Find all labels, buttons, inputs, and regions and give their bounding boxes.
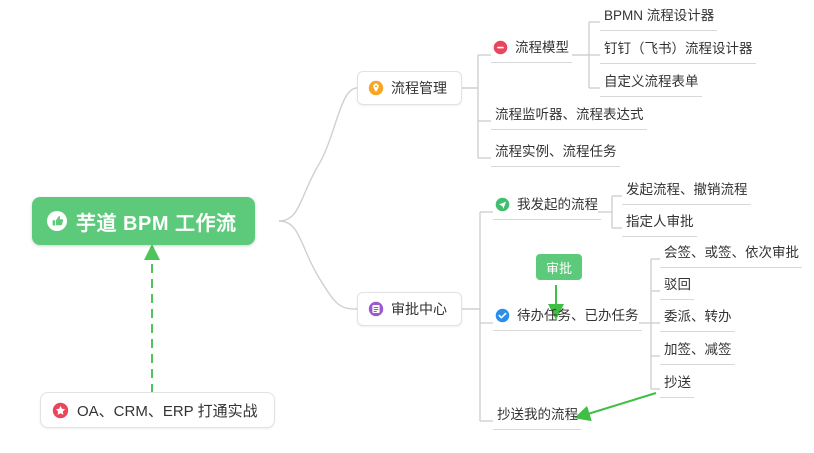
node-approval-center[interactable]: 审批中心 (357, 292, 462, 326)
note-oa-crm-erp[interactable]: OA、CRM、ERP 打通实战 (40, 392, 275, 428)
node-label: 发起流程、撤销流程 (626, 180, 748, 199)
root-label: 芋道 BPM 工作流 (76, 207, 237, 236)
node-cc[interactable]: 抄送 (660, 373, 694, 398)
node-label: 流程监听器、流程表达式 (495, 105, 644, 124)
node-label: 审批中心 (391, 299, 447, 319)
node-label: 驳回 (664, 275, 691, 294)
node-label: 会签、或签、依次审批 (664, 243, 799, 262)
node-label: 钉钉（飞书）流程设计器 (604, 39, 753, 58)
check-circle-icon (495, 308, 510, 323)
node-process-instance-task[interactable]: 流程实例、流程任务 (491, 142, 620, 167)
node-add-remove-sign[interactable]: 加签、减签 (660, 340, 735, 365)
node-assignee-approval[interactable]: 指定人审批 (622, 212, 697, 237)
node-cc-to-me-processes[interactable]: 抄送我的流程 (493, 405, 581, 430)
node-my-started-processes[interactable]: 我发起的流程 (493, 195, 601, 220)
star-circle-icon (52, 402, 69, 419)
node-todo-done-tasks[interactable]: 待办任务、已办任务 (493, 306, 642, 331)
mindmap-canvas: 芋道 BPM 工作流 流程管理 流程模型 BPMN 流程设计器 钉钉（飞书）流程… (0, 0, 814, 453)
note-label: OA、CRM、ERP 打通实战 (77, 400, 258, 421)
node-process-listener-expression[interactable]: 流程监听器、流程表达式 (491, 105, 647, 130)
minus-circle-icon (493, 40, 508, 55)
node-label: 自定义流程表单 (604, 72, 699, 91)
node-delegate-transfer[interactable]: 委派、转办 (660, 307, 735, 332)
node-label: 我发起的流程 (517, 195, 598, 214)
node-countersign-types[interactable]: 会签、或签、依次审批 (660, 243, 802, 268)
node-label: 委派、转办 (664, 307, 732, 326)
thumbs-up-icon (46, 210, 68, 232)
callout-approval: 审批 (536, 254, 582, 280)
node-start-cancel-process[interactable]: 发起流程、撤销流程 (622, 180, 751, 205)
node-label: 待办任务、已办任务 (517, 306, 639, 325)
node-label: 抄送我的流程 (497, 405, 578, 424)
root-node[interactable]: 芋道 BPM 工作流 (32, 197, 255, 245)
send-circle-icon (495, 197, 510, 212)
node-label: 流程管理 (391, 78, 447, 98)
node-label: 流程模型 (515, 38, 569, 57)
node-bpmn-designer[interactable]: BPMN 流程设计器 (600, 6, 717, 31)
node-process-management[interactable]: 流程管理 (357, 71, 462, 105)
node-label: 指定人审批 (626, 212, 694, 231)
clipboard-icon (368, 301, 384, 317)
location-pin-icon (368, 80, 384, 96)
node-custom-process-form[interactable]: 自定义流程表单 (600, 72, 702, 97)
node-dingtalk-designer[interactable]: 钉钉（飞书）流程设计器 (600, 39, 756, 64)
node-label: 加签、减签 (664, 340, 732, 359)
node-process-model[interactable]: 流程模型 (491, 38, 572, 63)
callout-label: 审批 (546, 258, 572, 277)
node-reject[interactable]: 驳回 (660, 275, 694, 300)
node-label: BPMN 流程设计器 (604, 6, 714, 25)
node-label: 抄送 (664, 373, 691, 392)
node-label: 流程实例、流程任务 (495, 142, 617, 161)
